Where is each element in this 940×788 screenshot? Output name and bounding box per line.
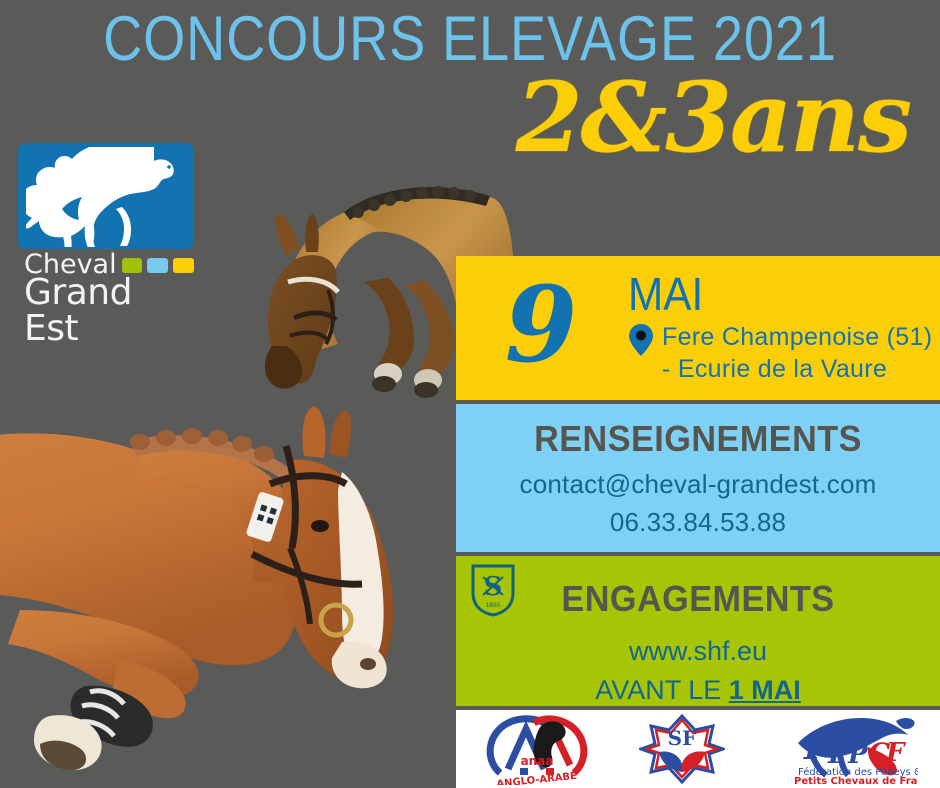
- fppcf-line2: Petits Chevaux de France: [794, 776, 918, 785]
- engagements-deadline-date: 1 MAI: [729, 675, 801, 705]
- brand-logo-grandest-text: Grand Est: [18, 275, 194, 347]
- svg-text:P: P: [847, 740, 869, 770]
- map-pin-icon: [628, 323, 654, 357]
- anaa-anglo-arabe-logo: anaa ANGLO-ARABE: [478, 713, 596, 785]
- date-panel: 9 MAI Fere Champenoise (51) - Ecurie de …: [456, 256, 940, 400]
- brand-swatch-yellow: [173, 258, 194, 273]
- engagements-panel: S 1865 ENGAGEMENTS www.shf.eu AVANT LE 1…: [456, 556, 940, 706]
- event-location: Fere Champenoise (51) - Ecurie de la Vau…: [628, 321, 940, 385]
- poster-canvas: CONCOURS ELEVAGE 2021 2&3ans: [0, 0, 940, 788]
- info-panel-heading: RENSEIGNEMENTS: [468, 418, 928, 460]
- svg-text:F: F: [803, 728, 831, 768]
- horse-silhouette-icon: [26, 147, 186, 247]
- brand-logo: Cheval Grand Est: [18, 143, 194, 347]
- fppcf-logo: F P P C F Fédération des Poneys & Petits…: [768, 713, 918, 785]
- page-subtitle: 2&3ans: [516, 70, 910, 166]
- brand-swatch-blue: [147, 258, 168, 273]
- svg-text:F: F: [885, 738, 906, 768]
- engagements-url[interactable]: www.shf.eu: [456, 636, 940, 667]
- brand-logo-box: [18, 143, 194, 249]
- date-panel-details: MAI Fere Champenoise (51) - Ecurie de la…: [626, 271, 940, 385]
- svg-text:SF: SF: [668, 726, 697, 750]
- engagements-deadline-prefix: AVANT LE: [595, 675, 729, 705]
- contact-phone[interactable]: 06.33.84.53.88: [456, 507, 940, 538]
- svg-text:P: P: [827, 737, 850, 770]
- event-location-line1: Fere Champenoise (51): [662, 321, 932, 353]
- engagements-heading: ENGAGEMENTS: [468, 578, 928, 620]
- svg-text:ANGLO-ARABE: ANGLO-ARABE: [496, 771, 578, 785]
- event-month: MAI: [628, 271, 915, 317]
- chestnut-horse-photo: [0, 398, 460, 788]
- event-location-line2: - Ecurie de la Vaure: [662, 353, 932, 385]
- event-day: 9: [456, 273, 626, 377]
- partner-logos-panel: anaa ANGLO-ARABE SF F: [456, 710, 940, 788]
- brand-swatch-green: [122, 258, 143, 273]
- info-panel: RENSEIGNEMENTS contact@cheval-grandest.c…: [456, 404, 940, 552]
- sf-selle-francais-logo: SF: [639, 714, 725, 784]
- engagements-deadline: AVANT LE 1 MAI: [456, 675, 940, 706]
- svg-text:anaa: anaa: [520, 754, 553, 768]
- contact-email[interactable]: contact@cheval-grandest.com: [456, 469, 940, 500]
- event-location-lines: Fere Champenoise (51) - Ecurie de la Vau…: [662, 321, 932, 385]
